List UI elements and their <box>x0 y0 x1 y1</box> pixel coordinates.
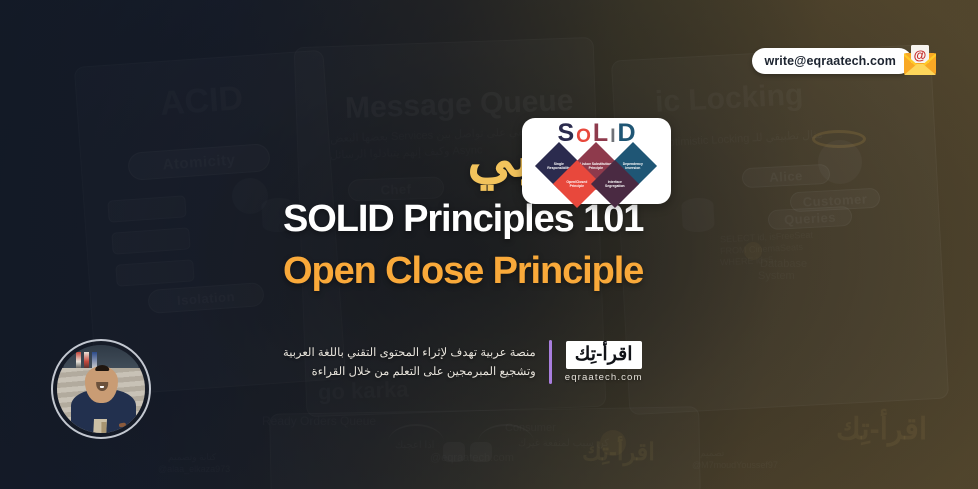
page-subtitle: Open Close Principle <box>283 252 643 292</box>
vertical-divider <box>549 340 552 384</box>
eqraatech-logo[interactable]: اقرأ-تِك eqraatech.com <box>565 341 643 383</box>
eqraatech-promo-banner: ACID Message Queue ic Locking go karka م… <box>0 0 978 489</box>
avatar-pocket-square <box>118 423 125 428</box>
tagline: منصة عربية تهدف لإثراء المحتوى التقني با… <box>283 343 536 381</box>
diamond-label: Interface Segregation <box>598 180 632 189</box>
eqraatech-logo-url: eqraatech.com <box>565 372 643 383</box>
envelope-at-icon: @ <box>900 44 940 78</box>
avatar-photo <box>57 345 145 433</box>
solid-logo-badge: S O L I D Single Responsibility Liskov S… <box>522 118 671 204</box>
svg-text:@: @ <box>914 48 927 63</box>
eqraatech-logo-box: اقرأ-تِك <box>566 341 642 369</box>
tagline-line-1: منصة عربية تهدف لإثراء المحتوى التقني با… <box>283 343 536 362</box>
avatar-smile <box>100 386 104 388</box>
tagline-line-2: وتشجيع المبرمجين على التعلم من خلال القر… <box>283 362 536 381</box>
diamond-label: Open/Closed Principle <box>560 180 594 189</box>
page-title: SOLID Principles 101 <box>283 200 643 240</box>
eqraatech-logo-arabic: اقرأ-تِك <box>575 345 633 364</box>
solid-letter-o: O <box>576 127 591 146</box>
contact-email-badge[interactable]: write@eqraatech.com @ <box>752 44 941 78</box>
email-address-pill[interactable]: write@eqraatech.com <box>752 48 913 74</box>
avatar-tie <box>101 422 106 433</box>
solid-principle-diamonds: Single Responsibility Liskov Substitutio… <box>522 145 671 203</box>
avatar <box>51 339 151 439</box>
solid-letter-i: I <box>610 127 615 146</box>
footer-brand-row: منصة عربية تهدف لإثراء المحتوى التقني با… <box>283 340 643 384</box>
avatar-hair <box>95 365 109 371</box>
